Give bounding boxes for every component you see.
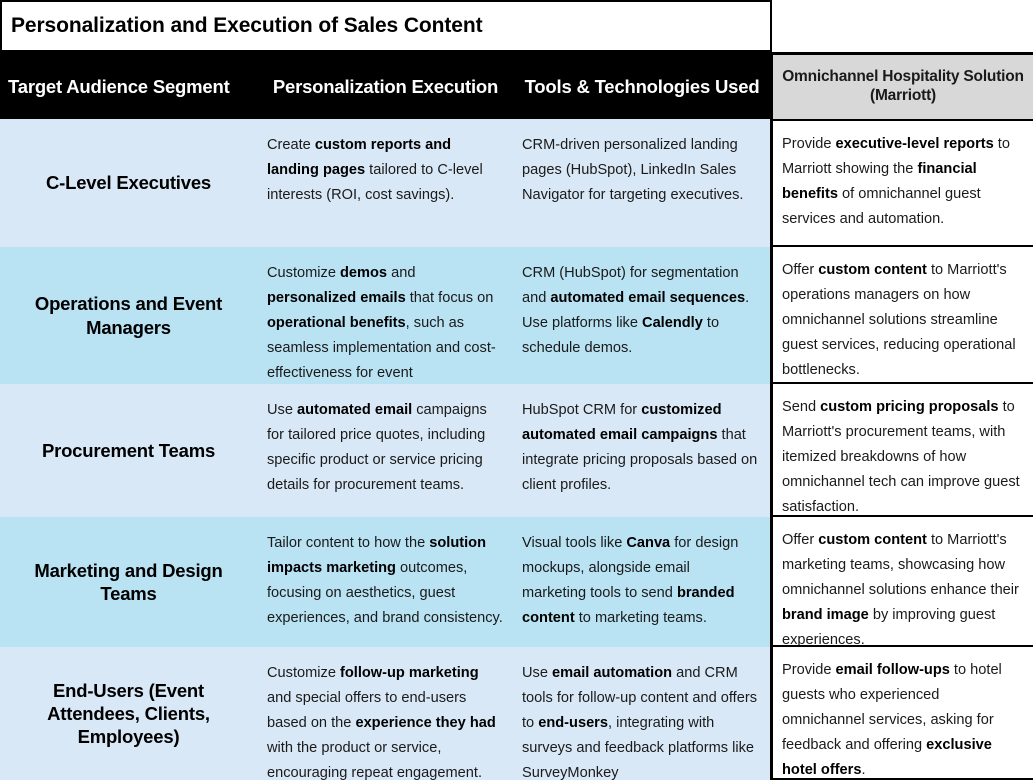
- column-header-omnichannel-hospitality-solution: Omnichannel Hospitality Solution (Marrio…: [770, 55, 1033, 119]
- cell-tools-technologies-used: HubSpot CRM for customized automated ema…: [514, 384, 770, 517]
- cell-target-audience-segment: Operations and Event Managers: [0, 247, 257, 384]
- cell-target-audience-segment: End-Users (Event Attendees, Clients, Emp…: [0, 647, 257, 780]
- cell-personalization-execution: Use automated email campaigns for tailor…: [257, 384, 514, 517]
- table-row: Marketing and Design TeamsTailor content…: [0, 517, 1033, 647]
- table-row: Procurement TeamsUse automated email cam…: [0, 384, 1033, 517]
- column-header-target-audience-segment: Target Audience Segment: [0, 55, 257, 119]
- column-header-tools-technologies-used: Tools & Technologies Used: [514, 55, 770, 119]
- cell-omnichannel-hospitality-solution: Send custom pricing proposals to Marriot…: [770, 384, 1033, 517]
- table-row: Operations and Event ManagersCustomize d…: [0, 247, 1033, 384]
- cell-tools-technologies-used: CRM (HubSpot) for segmentation and autom…: [514, 247, 770, 384]
- table-header-row: Target Audience Segment Personalization …: [0, 55, 1033, 119]
- cell-omnichannel-hospitality-solution: Offer custom content to Marriott's marke…: [770, 517, 1033, 647]
- page-title: Personalization and Execution of Sales C…: [2, 14, 482, 37]
- cell-target-audience-segment: Procurement Teams: [0, 384, 257, 517]
- content-table: Target Audience Segment Personalization …: [0, 55, 1033, 780]
- slide-canvas: Personalization and Execution of Sales C…: [0, 0, 1033, 780]
- column-header-personalization-execution: Personalization Execution: [257, 55, 514, 119]
- table-body: C-Level ExecutivesCreate custom reports …: [0, 119, 1033, 780]
- slide-title-box: Personalization and Execution of Sales C…: [0, 0, 772, 52]
- cell-tools-technologies-used: Visual tools like Canva for design mocku…: [514, 517, 770, 647]
- cell-personalization-execution: Tailor content to how the solution impac…: [257, 517, 514, 647]
- table-row: C-Level ExecutivesCreate custom reports …: [0, 119, 1033, 247]
- cell-tools-technologies-used: CRM-driven personalized landing pages (H…: [514, 119, 770, 247]
- cell-personalization-execution: Customize demos and personalized emails …: [257, 247, 514, 384]
- cell-tools-technologies-used: Use email automation and CRM tools for f…: [514, 647, 770, 780]
- cell-omnichannel-hospitality-solution: Offer custom content to Marriott's opera…: [770, 247, 1033, 384]
- cell-personalization-execution: Create custom reports and landing pages …: [257, 119, 514, 247]
- cell-personalization-execution: Customize follow-up marketing and specia…: [257, 647, 514, 780]
- table-row: End-Users (Event Attendees, Clients, Emp…: [0, 647, 1033, 780]
- cell-target-audience-segment: C-Level Executives: [0, 119, 257, 247]
- cell-target-audience-segment: Marketing and Design Teams: [0, 517, 257, 647]
- cell-omnichannel-hospitality-solution: Provide executive-level reports to Marri…: [770, 119, 1033, 247]
- cell-omnichannel-hospitality-solution: Provide email follow-ups to hotel guests…: [770, 647, 1033, 780]
